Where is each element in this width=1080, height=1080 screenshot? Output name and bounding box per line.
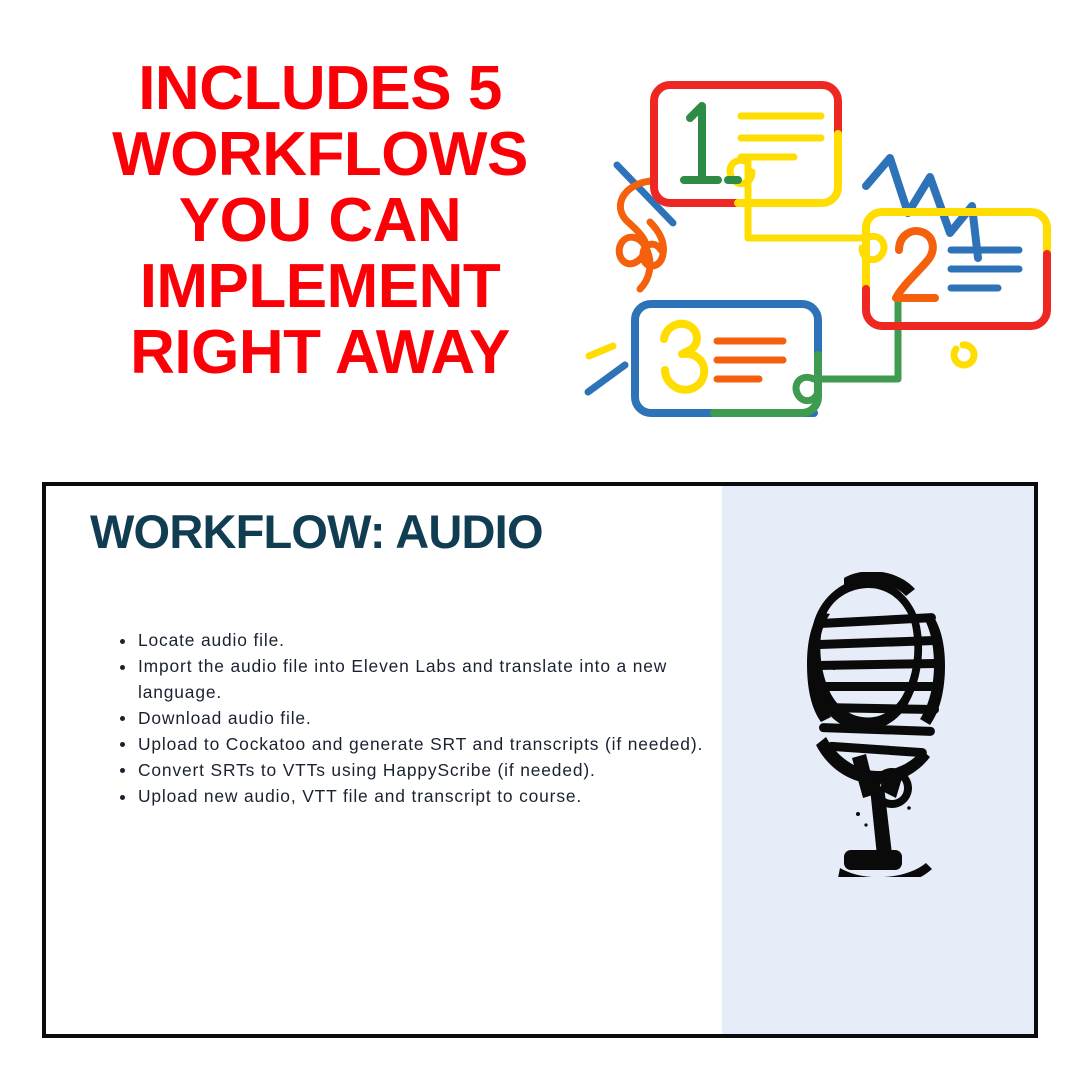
list-item: Locate audio file. — [138, 628, 738, 654]
microphone-icon — [774, 572, 982, 877]
slide-content-panel: WORKFLOW: AUDIO Locate audio file. Impor… — [46, 486, 722, 1034]
card-1-text-lines — [741, 116, 821, 157]
workflow-steps-list: Locate audio file. Import the audio file… — [104, 628, 738, 810]
card-1-border-yellow — [738, 134, 838, 203]
list-item: Upload new audio, VTT file and transcrip… — [138, 784, 738, 810]
card-3 — [635, 304, 818, 413]
connector-3-to-2 — [814, 301, 898, 379]
yellow-dash-icon — [589, 346, 613, 356]
list-item: Download audio file. — [138, 706, 738, 732]
card-2-text-lines — [951, 250, 1019, 288]
hero-section: INCLUDES 5 WORKFLOWS YOU CAN IMPLEMENT R… — [0, 0, 1080, 470]
list-item: Upload to Cockatoo and generate SRT and … — [138, 732, 738, 758]
card-3-number-3 — [664, 324, 704, 390]
slide-image-panel — [722, 486, 1034, 1034]
slide-title: WORKFLOW: AUDIO — [90, 504, 543, 559]
slide-frame: WORKFLOW: AUDIO Locate audio file. Impor… — [42, 482, 1038, 1038]
three-numbered-cards-illustration — [578, 58, 1064, 463]
list-item: Convert SRTs to VTTs using HappyScribe (… — [138, 758, 738, 784]
list-item: Import the audio file into Eleven Labs a… — [138, 654, 738, 705]
card-1-number-1 — [684, 106, 718, 180]
yellow-ring-icon — [954, 345, 974, 365]
card-3-border-green — [714, 355, 818, 413]
blue-dash-icon — [588, 365, 625, 392]
card-3-text-lines — [717, 341, 783, 379]
page-headline: INCLUDES 5 WORKFLOWS YOU CAN IMPLEMENT R… — [40, 56, 600, 386]
card-2-number-2 — [896, 231, 935, 298]
